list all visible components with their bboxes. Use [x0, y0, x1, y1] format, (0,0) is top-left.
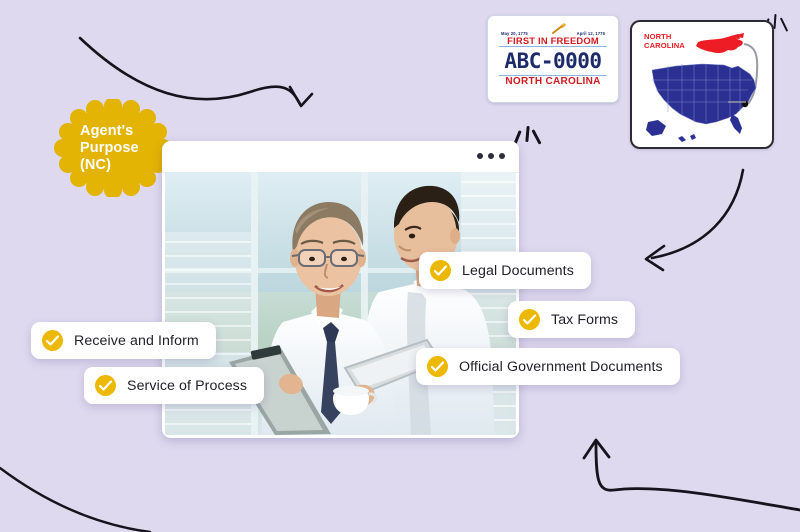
- plate-state-name: NORTH CAROLINA: [505, 76, 600, 87]
- list-item-label: Official Government Documents: [459, 359, 663, 375]
- plate-slogan: FIRST IN FREEDOM: [507, 36, 599, 46]
- torch-icon: [551, 23, 567, 35]
- plate-number: ABC-0000: [504, 49, 601, 74]
- badge-line-2: Purpose: [58, 140, 174, 157]
- list-item-tax-forms[interactable]: Tax Forms: [508, 301, 635, 338]
- list-item-official-government-documents[interactable]: Official Government Documents: [416, 348, 680, 385]
- list-item-label: Legal Documents: [462, 263, 574, 279]
- list-item-label: Receive and Inform: [74, 333, 199, 349]
- us-states-shape: [646, 64, 756, 142]
- check-circle-icon: [519, 309, 540, 330]
- us-map-card: NORTH CAROLINA: [630, 20, 774, 149]
- check-circle-icon: [430, 260, 451, 281]
- arrow-top-left-icon: [80, 38, 312, 106]
- list-item-legal-documents[interactable]: Legal Documents: [419, 252, 591, 289]
- badge-line-3: (NC): [58, 157, 174, 174]
- list-item-label: Tax Forms: [551, 312, 618, 328]
- browser-menu-dots-icon[interactable]: [477, 153, 505, 159]
- agents-purpose-badge: Agent's Purpose (NC): [52, 99, 174, 197]
- map-state-label: NORTH CAROLINA: [644, 32, 685, 50]
- badge-line-1: Agent's: [58, 123, 174, 140]
- infographic-canvas: May 20, 1775 April 12, 1776 FIRST IN FRE…: [0, 0, 800, 532]
- plate-date-right: April 12, 1776: [577, 31, 605, 36]
- arrow-bottom-icon: [584, 440, 800, 510]
- arrow-bottom-left-icon: [0, 468, 150, 532]
- list-item-service-of-process[interactable]: Service of Process: [84, 367, 264, 404]
- list-item-label: Service of Process: [127, 378, 247, 394]
- north-carolina-highlight: [696, 33, 744, 53]
- arrow-right-icon: [646, 170, 743, 270]
- check-circle-icon: [95, 375, 116, 396]
- check-circle-icon: [42, 330, 63, 351]
- plate-date-left: May 20, 1775: [501, 31, 528, 36]
- check-circle-icon: [427, 356, 448, 377]
- badge-text: Agent's Purpose (NC): [52, 99, 174, 197]
- nc-license-plate: May 20, 1775 April 12, 1776 FIRST IN FRE…: [487, 15, 619, 103]
- list-item-receive-and-inform[interactable]: Receive and Inform: [31, 322, 216, 359]
- browser-title-bar: [162, 141, 519, 173]
